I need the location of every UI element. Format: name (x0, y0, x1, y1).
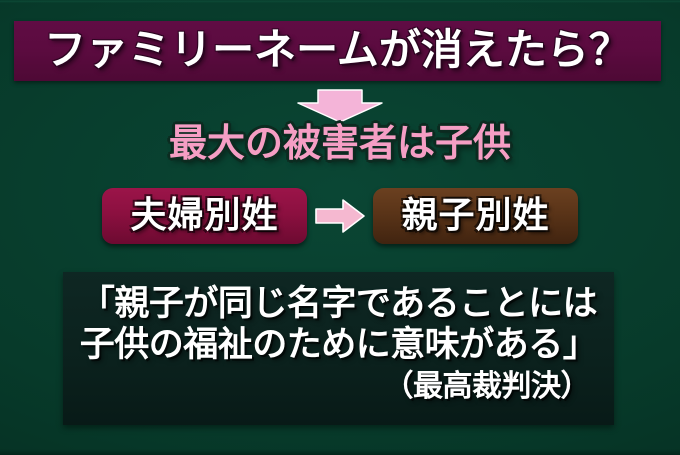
quote-line-1: 「親子が同じ名字であることには (77, 284, 600, 325)
quote-lines: 「親子が同じ名字であることには 子供の福祉のために意味がある」 （最高裁判決） (77, 284, 600, 405)
quote-attribution: （最高裁判決） (77, 369, 600, 405)
chip-fufu-bessei: 夫婦別姓 (102, 188, 307, 244)
chip-label-right: 親子別姓 (401, 198, 549, 234)
chip-label-left: 夫婦別姓 (130, 198, 278, 234)
arrow-down-icon (296, 88, 384, 124)
chip-oyako-bessei: 親子別姓 (373, 188, 578, 244)
chip-row: 夫婦別姓 親子別姓 (0, 187, 680, 245)
title-banner: ファミリーネームが消えたら？ (14, 21, 661, 81)
quote-box: 「親子が同じ名字であることには 子供の福祉のために意味がある」 （最高裁判決） (63, 272, 614, 425)
page-title: ファミリーネームが消えたら？ (14, 29, 661, 71)
arrow-right-icon (307, 196, 373, 236)
bottom-edge-shadow (0, 449, 680, 455)
subtitle-text: 最大の被害者は子供 (0, 124, 680, 162)
quote-line-2: 子供の福祉のために意味がある」 (77, 325, 600, 366)
slide-canvas: ファミリーネームが消えたら？ 最大の被害者は子供 夫婦別姓 親子別姓 「親子が同… (0, 0, 680, 455)
top-edge-highlight (0, 0, 680, 3)
